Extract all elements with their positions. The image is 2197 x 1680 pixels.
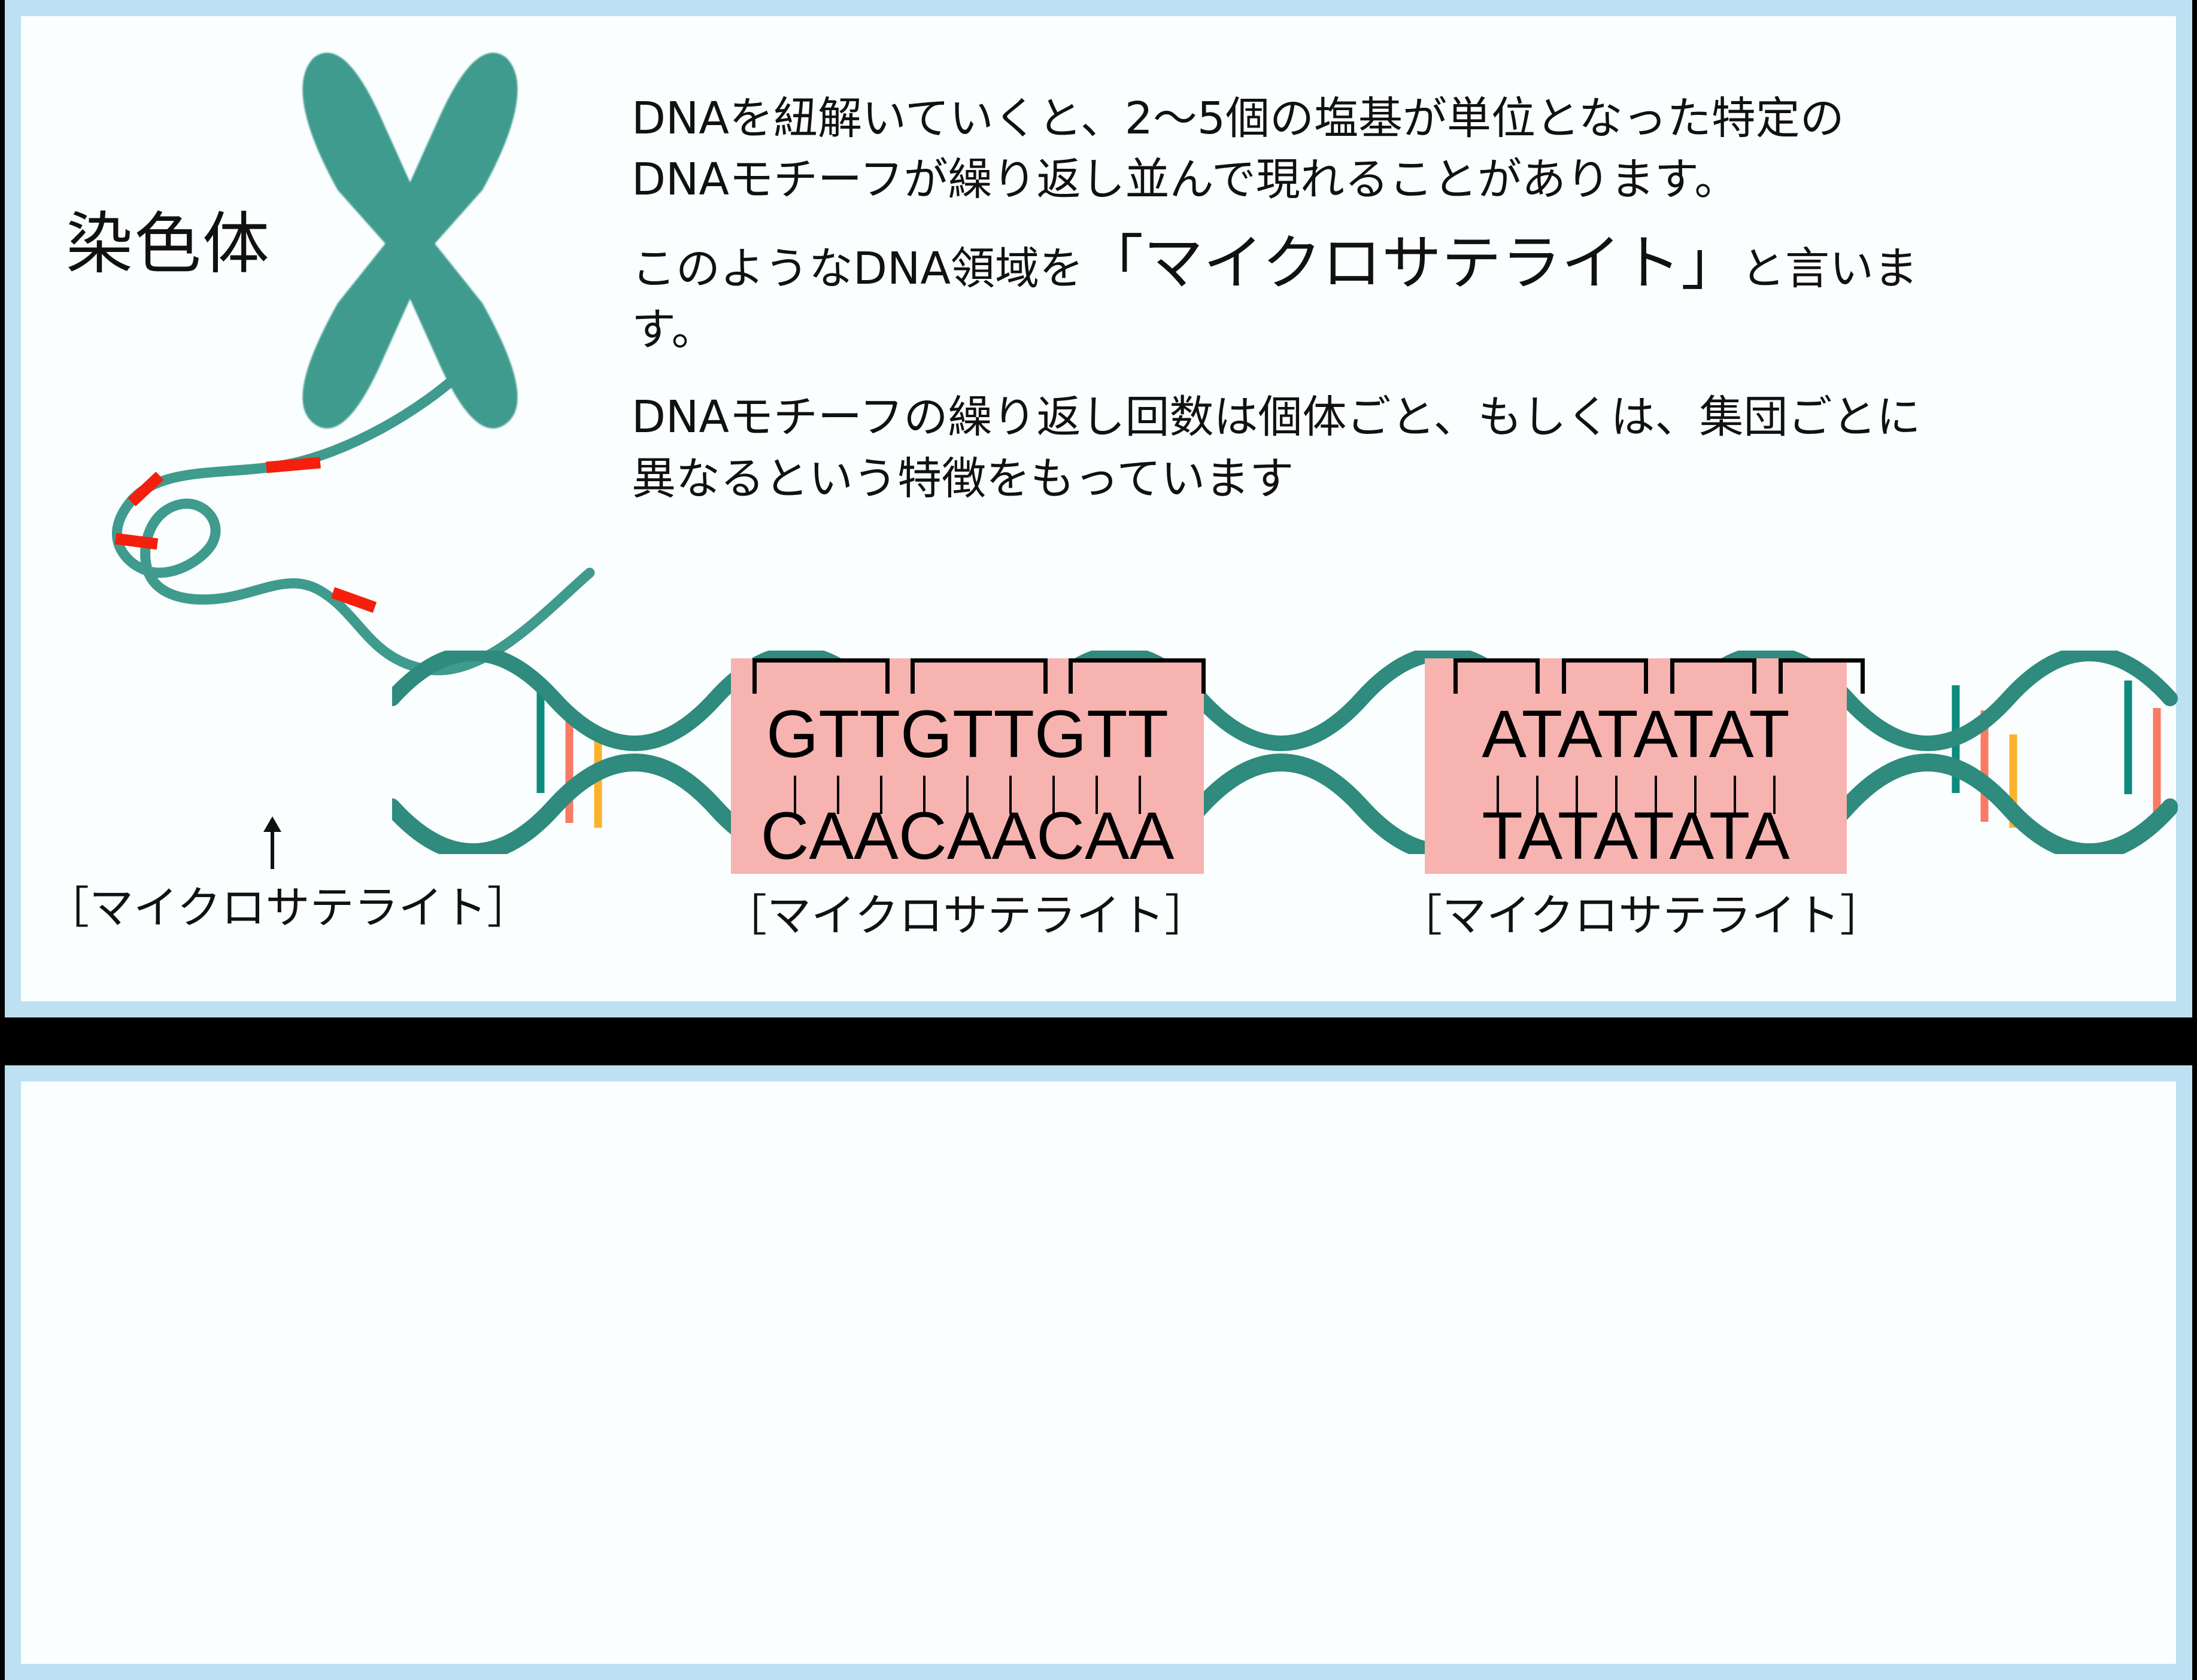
paragraph-3: DNAモチーフの繰り返し回数は個体ごと、もしくは、集団ごとに異なるという特徴をも… xyxy=(632,387,1937,509)
bottom-panel: サンプル マイクロサテライト_A マイクロサテライト_B 個体A xyxy=(5,1065,2192,1680)
repeat-brackets xyxy=(731,658,1204,694)
bottom-panel-canvas: サンプル マイクロサテライト_A マイクロサテライト_B 個体A xyxy=(21,1081,2176,1664)
slide-root: 染色体 ［マイ xyxy=(0,0,2197,1680)
microsatellite-arrow-icon xyxy=(260,815,284,869)
chromosome-icon xyxy=(272,46,548,429)
bottom-strand-sequence: TATATATA xyxy=(1425,797,1847,874)
sequence-box-at: ATATATAT TATATATA xyxy=(1425,658,1847,874)
paragraph-2: このようなDNA領域を「マイクロサテライト」と言います。 xyxy=(632,236,1937,360)
repeat-bracket xyxy=(911,658,1048,694)
repeat-bracket xyxy=(1562,658,1648,694)
sequence-box-gtt: GTTGTTGTT CAACAACAA xyxy=(731,658,1204,874)
repeat-bracket xyxy=(1779,658,1865,694)
repeat-bracket xyxy=(1069,658,1206,694)
paragraph-1: DNAを紐解いていくと、2～5個の塩基が単位となった特定のDNAモチーフが繰り返… xyxy=(632,88,1937,210)
sequence-box-caption-2: ［マイクロサテライト］ xyxy=(1398,880,1885,944)
microsatellite-thread-label: ［マイクロサテライト］ xyxy=(45,872,532,936)
explanation-text: DNAを紐解いていくと、2～5個の塩基が単位となった特定のDNAモチーフが繰り返… xyxy=(632,88,1937,536)
repeat-bracket xyxy=(1670,658,1756,694)
dna-helix-illustration xyxy=(392,651,2197,854)
repeat-brackets xyxy=(1425,658,1847,694)
repeat-bracket xyxy=(1453,658,1540,694)
top-panel: 染色体 ［マイ xyxy=(5,0,2192,1017)
bottom-strand-sequence: CAACAACAA xyxy=(731,797,1204,874)
repeat-bracket xyxy=(752,658,890,694)
sequence-box-caption-1: ［マイクロサテライト］ xyxy=(723,880,1209,944)
top-panel-canvas: 染色体 ［マイ xyxy=(21,16,2176,1001)
chromosome-label: 染色体 xyxy=(66,190,271,287)
top-strand-sequence: ATATATAT xyxy=(1425,695,1847,773)
top-strand-sequence: GTTGTTGTT xyxy=(731,695,1204,773)
microsatellite-term: 「マイクロサテライト」 xyxy=(1084,228,1741,298)
